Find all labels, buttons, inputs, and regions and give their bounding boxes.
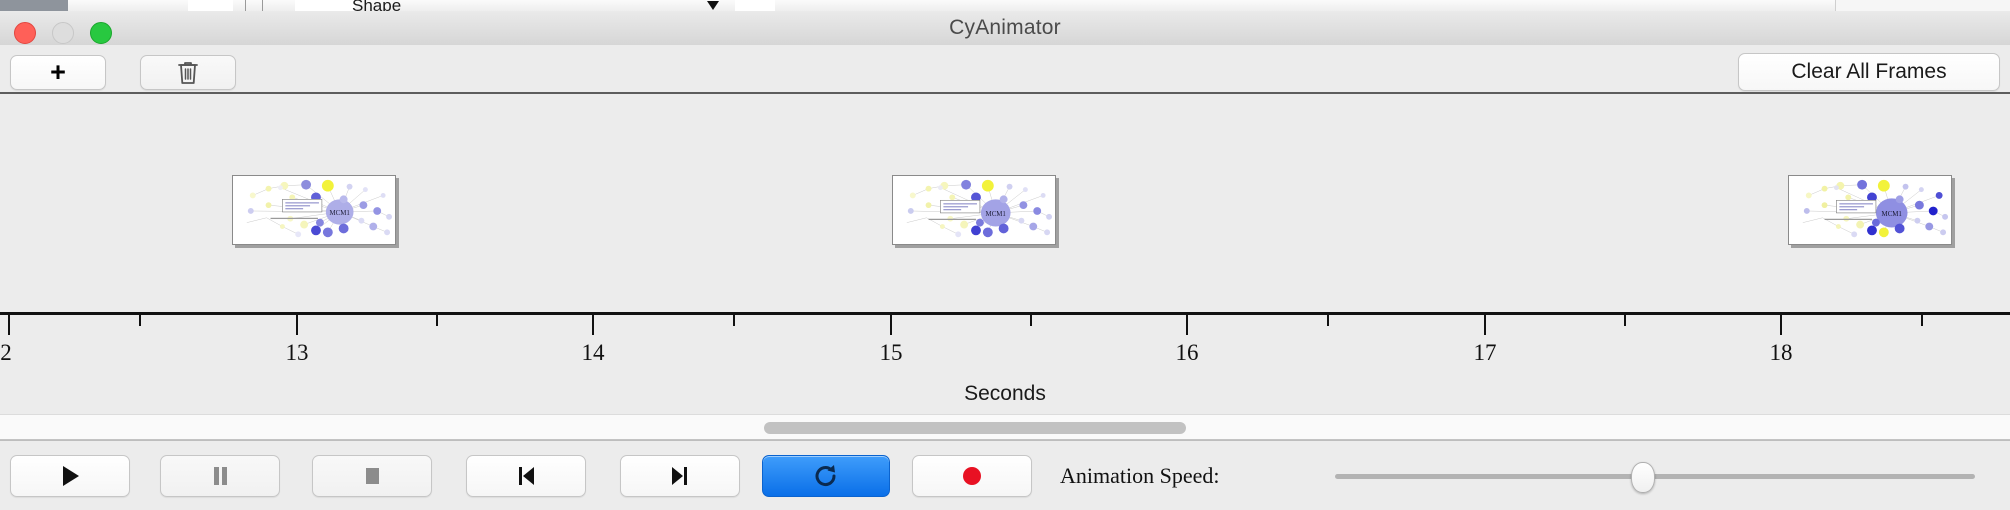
delete-frame-button[interactable] bbox=[140, 55, 236, 90]
axis-tick-minor bbox=[1921, 315, 1923, 326]
bg-caret-icon bbox=[707, 1, 719, 10]
axis-tick-major bbox=[1186, 315, 1188, 335]
next-frame-button[interactable] bbox=[620, 455, 740, 497]
axis-tick-major bbox=[890, 315, 892, 335]
axis-tick-major bbox=[1484, 315, 1486, 335]
svg-text:MCM1: MCM1 bbox=[330, 210, 351, 217]
axis-tick-label: 13 bbox=[286, 340, 309, 366]
prev-frame-button[interactable] bbox=[466, 455, 586, 497]
bg-segment bbox=[775, 0, 1836, 11]
axis-tick-label: 16 bbox=[1176, 340, 1199, 366]
axis-tick-minor bbox=[1030, 315, 1032, 326]
axis-tick-major bbox=[8, 315, 10, 335]
axis-tick-minor bbox=[139, 315, 141, 326]
svg-text:MCM1: MCM1 bbox=[986, 211, 1007, 218]
pause-button[interactable] bbox=[160, 455, 280, 497]
record-button[interactable] bbox=[912, 455, 1032, 497]
axis-tick-major bbox=[1780, 315, 1782, 335]
stop-icon bbox=[361, 464, 383, 488]
timeline-axis bbox=[0, 312, 2010, 315]
loop-button[interactable] bbox=[762, 455, 890, 497]
frame-thumbnail-2[interactable]: MCM1 bbox=[892, 175, 1056, 245]
network-preview: MCM1 bbox=[1789, 176, 1951, 244]
pause-icon bbox=[209, 464, 231, 488]
add-frame-button[interactable]: + bbox=[10, 55, 106, 90]
animation-speed-thumb[interactable] bbox=[1631, 462, 1655, 493]
axis-tick-major bbox=[296, 315, 298, 335]
timeline-scrollbar[interactable] bbox=[0, 414, 2010, 440]
bg-tick bbox=[245, 0, 246, 11]
skip-start-icon bbox=[514, 464, 538, 488]
network-preview: MCM1 bbox=[233, 176, 395, 244]
record-icon bbox=[960, 464, 984, 488]
bg-segment bbox=[233, 0, 296, 11]
bg-segment bbox=[188, 0, 234, 11]
transport-bar: Animation Speed: bbox=[0, 440, 2010, 510]
toolbar: + Clear All Frames bbox=[0, 45, 2010, 92]
frame-thumbnail-1[interactable]: MCM1 bbox=[232, 175, 396, 245]
axis-tick-label: 18 bbox=[1770, 340, 1793, 366]
axis-tick-minor bbox=[1327, 315, 1329, 326]
axis-tick-major bbox=[592, 315, 594, 335]
axis-tick-minor bbox=[436, 315, 438, 326]
window-title: CyAnimator bbox=[0, 11, 2010, 45]
axis-tick-minor bbox=[733, 315, 735, 326]
network-preview: MCM1 bbox=[893, 176, 1055, 244]
animation-speed-slider[interactable] bbox=[1335, 474, 1975, 479]
plus-icon: + bbox=[50, 59, 66, 86]
timeline-panel[interactable]: MCM1 bbox=[0, 92, 2010, 414]
axis-tick-minor bbox=[1624, 315, 1626, 326]
scrollbar-thumb[interactable] bbox=[764, 422, 1186, 434]
axis-tick-label: 2 bbox=[0, 340, 12, 366]
bg-tick bbox=[262, 0, 263, 11]
frame-thumbnail-3[interactable]: MCM1 bbox=[1788, 175, 1952, 245]
bg-segment bbox=[68, 0, 189, 11]
clear-all-frames-button[interactable]: Clear All Frames bbox=[1738, 53, 2000, 91]
bg-segment bbox=[735, 0, 776, 11]
axis-tick-label: 14 bbox=[582, 340, 605, 366]
trash-icon bbox=[176, 60, 200, 86]
skip-end-icon bbox=[668, 464, 692, 488]
bg-segment bbox=[355, 0, 736, 11]
play-icon bbox=[59, 464, 81, 488]
animation-speed-label: Animation Speed: bbox=[1060, 441, 1219, 510]
axis-title: Seconds bbox=[0, 382, 2010, 406]
play-button[interactable] bbox=[10, 455, 130, 497]
axis-tick-label: 15 bbox=[880, 340, 903, 366]
stop-button[interactable] bbox=[312, 455, 432, 497]
svg-text:MCM1: MCM1 bbox=[1882, 211, 1903, 218]
bg-segment bbox=[295, 0, 356, 11]
cyanimator-window: Shape CyAnimator + Clear All Frames bbox=[0, 0, 2010, 510]
bg-segment bbox=[0, 0, 69, 11]
axis-tick-label: 17 bbox=[1474, 340, 1497, 366]
title-bar: CyAnimator bbox=[0, 11, 2010, 46]
loop-icon bbox=[813, 463, 839, 489]
